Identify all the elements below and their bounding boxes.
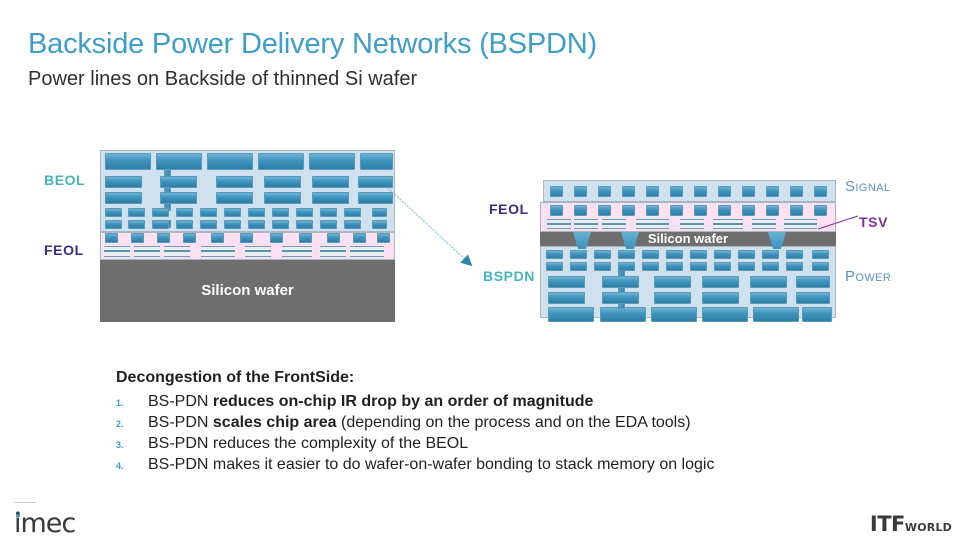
footer-divider bbox=[14, 502, 36, 503]
signal-metal bbox=[574, 186, 587, 197]
itf-world-text: WORLD bbox=[905, 521, 952, 534]
bspdn-power-rail bbox=[802, 307, 832, 322]
feol-contact bbox=[694, 205, 707, 216]
feol-contact bbox=[131, 233, 144, 243]
feol-contact bbox=[646, 205, 659, 216]
bspdn-metal-mid bbox=[702, 292, 739, 304]
metal-mid bbox=[312, 192, 349, 204]
metal-top bbox=[309, 153, 355, 170]
label-bspdn-right: BSPDN bbox=[483, 268, 535, 284]
metal-fine bbox=[296, 208, 313, 217]
fin-line bbox=[282, 250, 312, 252]
metal-mid bbox=[264, 192, 301, 204]
fin-line bbox=[713, 223, 743, 225]
metal-mid bbox=[216, 176, 253, 188]
bspdn-metal-fine bbox=[714, 262, 731, 271]
feol-contact bbox=[270, 233, 283, 243]
fin-line bbox=[680, 223, 704, 225]
bspdn-metal-fine bbox=[642, 262, 659, 271]
feol-contact bbox=[742, 205, 755, 216]
label-signal: Signal bbox=[845, 178, 890, 195]
metal-fine bbox=[344, 208, 361, 217]
metal-fine bbox=[248, 220, 265, 229]
metal-mid bbox=[160, 176, 197, 188]
feol-contact bbox=[240, 233, 253, 243]
feol-contact bbox=[790, 205, 803, 216]
bspdn-metal-fine bbox=[738, 262, 755, 271]
metal-fine bbox=[224, 208, 241, 217]
list-item-text: BS-PDN reduces the complexity of the BEO… bbox=[148, 435, 468, 453]
bspdn-metal-fine bbox=[786, 250, 803, 259]
imec-logo: imec bbox=[14, 508, 75, 539]
fin-line bbox=[602, 223, 626, 225]
feol-contact bbox=[766, 205, 779, 216]
metal-fine bbox=[372, 208, 387, 217]
page-title: Backside Power Delivery Networks (BSPDN) bbox=[28, 28, 597, 61]
metal-fine bbox=[200, 220, 217, 229]
metal-mid bbox=[216, 192, 253, 204]
bspdn-metal-fine bbox=[812, 250, 829, 259]
bullet-list-block: Decongestion of the FrontSide: 1. BS-PDN… bbox=[116, 369, 714, 477]
fin-line bbox=[752, 223, 776, 225]
fin-line bbox=[134, 250, 160, 252]
metal-fine bbox=[248, 208, 265, 217]
fin-line bbox=[574, 223, 598, 225]
bspdn-power-rail bbox=[548, 307, 594, 322]
page-subtitle: Power lines on Backside of thinned Si wa… bbox=[28, 68, 417, 91]
metal-fine bbox=[272, 220, 289, 229]
bspdn-metal-mid bbox=[750, 276, 787, 288]
metal-fine bbox=[320, 208, 337, 217]
metal-fine bbox=[152, 208, 169, 217]
bspdn-metal-fine bbox=[546, 250, 563, 259]
bspdn-metal-fine bbox=[546, 262, 563, 271]
bspdn-power-rail bbox=[600, 307, 646, 322]
metal-fine bbox=[152, 220, 169, 229]
bspdn-metal-fine bbox=[690, 262, 707, 271]
list-item-text: BS-PDN scales chip area (depending on th… bbox=[148, 414, 691, 432]
bspdn-metal-fine bbox=[762, 250, 779, 259]
via-column bbox=[164, 188, 171, 193]
signal-metal bbox=[622, 186, 635, 197]
feol-contact bbox=[718, 205, 731, 216]
metal-fine bbox=[105, 220, 122, 229]
label-beol-left: BEOL bbox=[44, 172, 85, 188]
signal-metal bbox=[814, 186, 827, 197]
list-item: 1. BS-PDN reduces on-chip IR drop by an … bbox=[116, 393, 714, 411]
via-column bbox=[164, 170, 171, 177]
metal-mid bbox=[264, 176, 301, 188]
feol-contact bbox=[550, 205, 563, 216]
metal-top bbox=[207, 153, 253, 170]
feol-contact bbox=[574, 205, 587, 216]
fin-line bbox=[350, 250, 384, 252]
feol-contact bbox=[353, 233, 366, 243]
bspdn-metal-mid bbox=[796, 276, 830, 288]
fin-line bbox=[784, 223, 817, 225]
fin-line bbox=[547, 223, 571, 225]
bspdn-metal-fine bbox=[594, 250, 611, 259]
bspdn-metal-fine bbox=[714, 250, 731, 259]
bspdn-metal-fine bbox=[762, 262, 779, 271]
bspdn-metal-mid bbox=[654, 276, 691, 288]
bspdn-metal-fine bbox=[594, 262, 611, 271]
label-power: Power bbox=[845, 268, 891, 285]
feol-contact bbox=[183, 233, 196, 243]
metal-fine bbox=[200, 208, 217, 217]
bspdn-metal-fine bbox=[738, 250, 755, 259]
list-item-number: 4. bbox=[116, 461, 148, 471]
bspdn-metal-fine bbox=[642, 250, 659, 259]
itf-logo-text: ITF bbox=[870, 512, 905, 536]
diagram-backside-power-delivery: Silicon wafer bbox=[540, 180, 836, 318]
bspdn-power-rail bbox=[702, 307, 748, 322]
bspdn-metal-mid bbox=[750, 292, 787, 304]
fin-line bbox=[164, 250, 190, 252]
label-tsv: TSV bbox=[859, 214, 888, 230]
metal-top bbox=[258, 153, 304, 170]
tsv-leader-line bbox=[818, 212, 863, 232]
signal-metal bbox=[742, 186, 755, 197]
via-column bbox=[618, 303, 625, 309]
list-item-number: 3. bbox=[116, 440, 148, 450]
bspdn-power-rail bbox=[651, 307, 697, 322]
diagram-frontside-power-delivery: Silicon wafer bbox=[100, 150, 395, 322]
fin-line bbox=[104, 250, 130, 252]
fin-line bbox=[201, 250, 235, 252]
list-item-number: 2. bbox=[116, 419, 148, 429]
metal-fine bbox=[128, 220, 145, 229]
list-item-text: BS-PDN makes it easier to do wafer-on-wa… bbox=[148, 456, 714, 474]
bspdn-metal-fine bbox=[690, 250, 707, 259]
itf-world-logo: ITFWORLD bbox=[870, 512, 952, 536]
metal-fine bbox=[176, 208, 193, 217]
metal-fine bbox=[176, 220, 193, 229]
bspdn-metal-fine bbox=[666, 262, 683, 271]
list-item: 4. BS-PDN makes it easier to do wafer-on… bbox=[116, 456, 714, 474]
metal-top bbox=[156, 153, 202, 170]
signal-metal bbox=[790, 186, 803, 197]
via-column bbox=[618, 287, 625, 293]
feol-contact bbox=[670, 205, 683, 216]
metal-fine bbox=[296, 220, 313, 229]
metal-fine bbox=[128, 208, 145, 217]
metal-top bbox=[105, 153, 151, 170]
signal-metal bbox=[694, 186, 707, 197]
bspdn-metal-mid bbox=[702, 276, 739, 288]
signal-metal bbox=[670, 186, 683, 197]
metal-top bbox=[360, 153, 393, 170]
bullet-list-heading: Decongestion of the FrontSide: bbox=[116, 369, 714, 387]
metal-mid bbox=[312, 176, 349, 188]
signal-metal bbox=[598, 186, 611, 197]
bspdn-metal-mid bbox=[654, 292, 691, 304]
via-column bbox=[618, 270, 625, 277]
metal-fine bbox=[272, 208, 289, 217]
signal-metal bbox=[718, 186, 731, 197]
feol-contact bbox=[327, 233, 340, 243]
bspdn-metal-fine bbox=[570, 250, 587, 259]
fin-line bbox=[636, 223, 669, 225]
list-item: 2. BS-PDN scales chip area (depending on… bbox=[116, 414, 714, 432]
label-feol-right: FEOL bbox=[489, 201, 529, 217]
signal-metal bbox=[550, 186, 563, 197]
fin-line bbox=[245, 250, 271, 252]
bspdn-metal-mid bbox=[796, 292, 830, 304]
fin-line bbox=[320, 250, 346, 252]
feol-contact bbox=[299, 233, 312, 243]
label-feol-left: FEOL bbox=[44, 242, 84, 258]
list-item: 3. BS-PDN reduces the complexity of the … bbox=[116, 435, 714, 453]
bspdn-power-rail bbox=[753, 307, 799, 322]
feol-contact bbox=[598, 205, 611, 216]
bspdn-metal-fine bbox=[666, 250, 683, 259]
feol-contact bbox=[157, 233, 170, 243]
metal-mid bbox=[105, 176, 142, 188]
metal-fine bbox=[320, 220, 337, 229]
list-item-text: BS-PDN reduces on-chip IR drop by an ord… bbox=[148, 393, 593, 411]
signal-metal bbox=[646, 186, 659, 197]
metal-fine bbox=[372, 220, 387, 229]
feol-contact bbox=[211, 233, 224, 243]
metal-fine bbox=[224, 220, 241, 229]
bspdn-metal-fine bbox=[812, 262, 829, 271]
list-item-number: 1. bbox=[116, 398, 148, 408]
metal-mid bbox=[105, 192, 142, 204]
metal-fine bbox=[105, 208, 122, 217]
bspdn-metal-fine bbox=[570, 262, 587, 271]
bspdn-metal-fine bbox=[786, 262, 803, 271]
silicon-wafer-label: Silicon wafer bbox=[100, 282, 395, 299]
signal-metal bbox=[766, 186, 779, 197]
feol-contact bbox=[105, 233, 118, 243]
connector-arrow bbox=[386, 186, 486, 276]
bspdn-metal-mid bbox=[548, 276, 585, 288]
feol-contact bbox=[622, 205, 635, 216]
bspdn-metal-mid bbox=[548, 292, 585, 304]
bspdn-metal-fine bbox=[618, 250, 635, 259]
metal-fine bbox=[344, 220, 361, 229]
